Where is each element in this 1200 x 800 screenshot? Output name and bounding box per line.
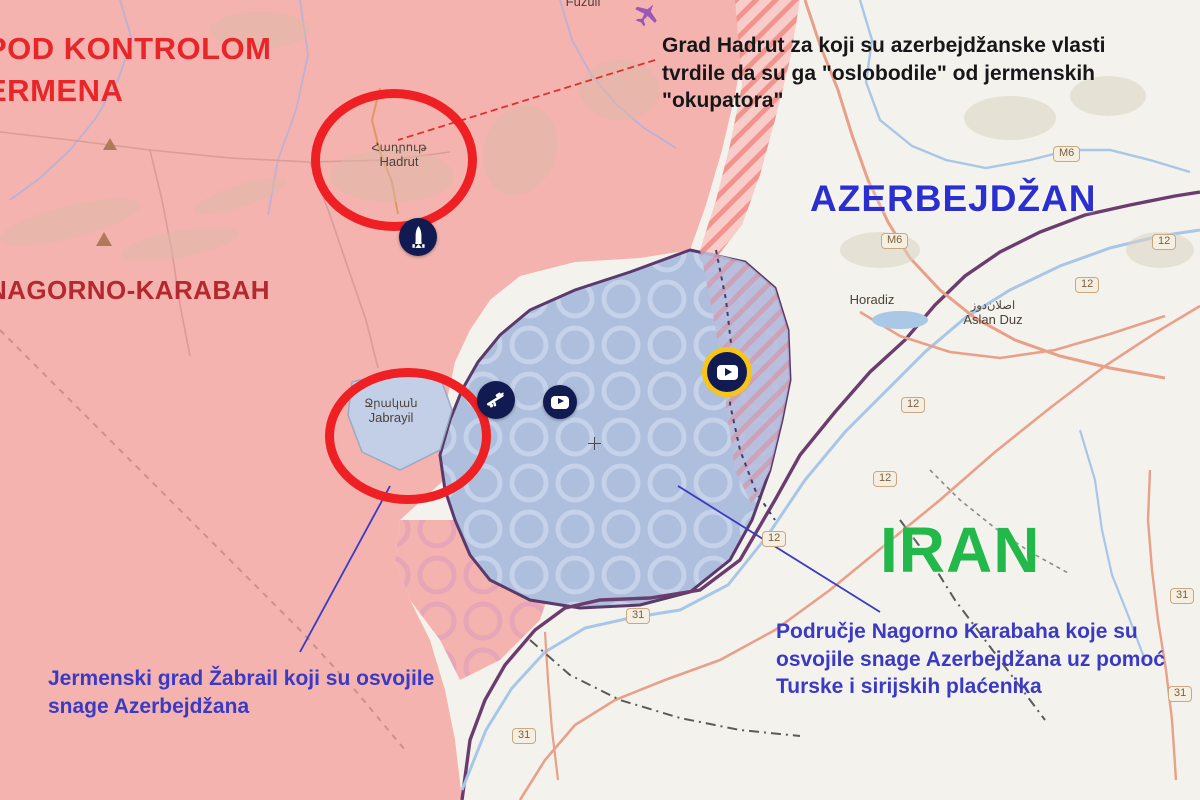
crosshair-marker: [588, 437, 601, 450]
lake-horadiz: [872, 311, 928, 329]
video-marker[interactable]: [543, 385, 577, 419]
youtube-play-icon: [717, 365, 738, 380]
video-marker-featured[interactable]: [707, 352, 747, 392]
map-canvas[interactable]: Հադրութ Hadrut Ջրական Jabrayil Horadiz ا…: [0, 0, 1200, 800]
territory-layer: [0, 0, 1200, 800]
rifle-icon: [484, 388, 508, 412]
bomb-icon: [411, 225, 426, 249]
bomb-marker[interactable]: [399, 218, 437, 256]
rifle-marker[interactable]: [477, 381, 515, 419]
youtube-play-icon: [551, 396, 569, 409]
